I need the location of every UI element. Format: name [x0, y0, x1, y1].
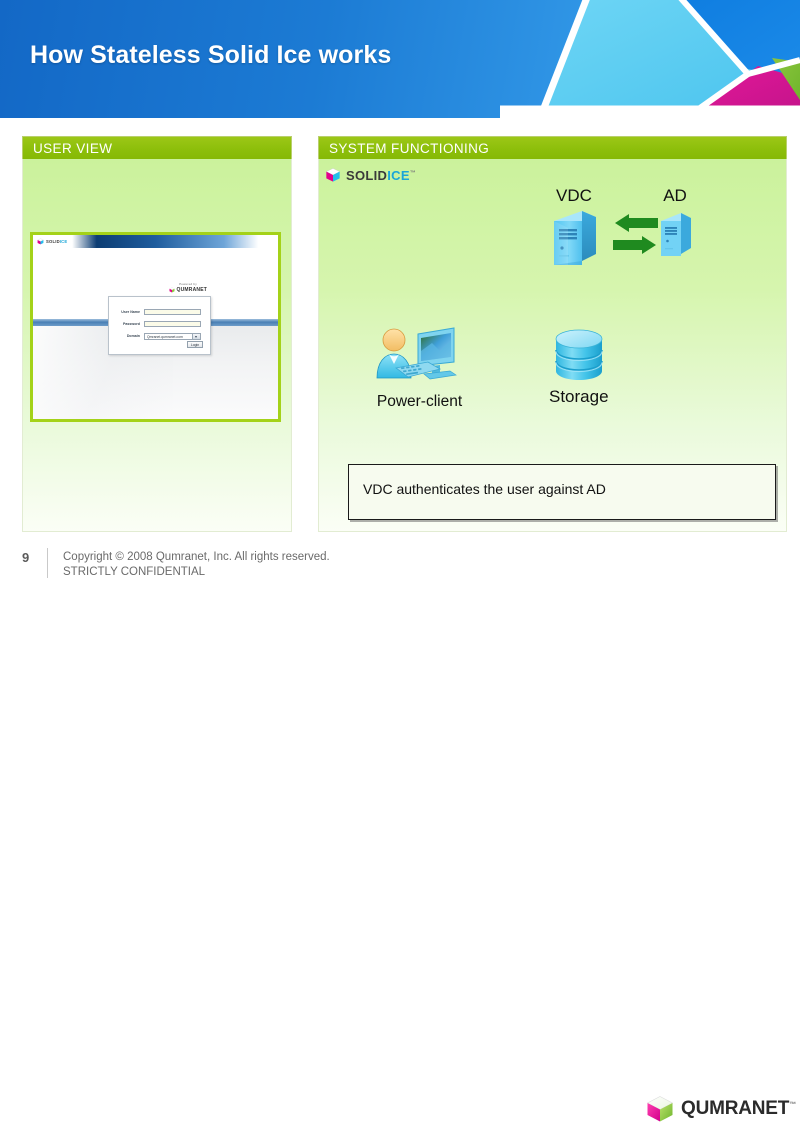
panel-user-view: USER VIEW SOLIDICE Powered by	[22, 136, 292, 532]
solidice-logo-text: SOLIDICE™	[346, 168, 416, 183]
page-number: 9	[22, 550, 29, 565]
chevron-down-icon	[192, 334, 200, 339]
node-ad: AD	[655, 186, 695, 265]
screenshot-powered-by: Powered by QUMRANET	[169, 282, 207, 293]
server-icon	[655, 210, 695, 260]
user-workstation-icon	[372, 324, 467, 386]
screenshot-solidice-logo: SOLIDICE	[37, 238, 67, 245]
login-field-username[interactable]: User Name	[113, 309, 201, 315]
node-vdc-label: VDC	[546, 186, 602, 206]
login-label-username: User Name	[113, 310, 144, 314]
screenshot-logo-text: SOLIDICE	[46, 239, 67, 244]
caption-box: VDC authenticates the user against AD	[348, 464, 776, 520]
footer-copyright: Copyright © 2008 Qumranet, Inc. All righ…	[63, 550, 330, 579]
slide-header: How Stateless Solid Ice works	[0, 0, 800, 118]
login-input-username[interactable]	[144, 309, 201, 315]
page-title: How Stateless Solid Ice works	[30, 41, 391, 70]
cube-icon	[37, 238, 44, 245]
bidirectional-arrows-icon	[613, 214, 658, 258]
database-icon	[550, 327, 608, 383]
node-storage: Storage	[549, 327, 609, 407]
screenshot-topbar	[33, 235, 278, 248]
qumranet-cube-icon	[645, 1094, 675, 1124]
user-view-screenshot[interactable]: SOLIDICE Powered by QUMRANET	[30, 232, 281, 422]
powered-by-logo: QUMRANET	[169, 287, 207, 293]
powered-by-label: Powered by	[169, 282, 207, 286]
server-icon	[546, 207, 602, 269]
footer-copyright-line1: Copyright © 2008 Qumranet, Inc. All righ…	[63, 550, 330, 565]
panel-user-view-body: SOLIDICE Powered by QUMRANET	[22, 159, 292, 532]
slide-footer: 9 Copyright © 2008 Qumranet, Inc. All ri…	[0, 540, 800, 600]
panel-user-view-header: USER VIEW	[22, 136, 292, 159]
footer-divider	[47, 548, 48, 578]
node-ad-label: AD	[655, 186, 695, 206]
qumranet-logo: QUMRANET™	[645, 1094, 796, 1124]
node-storage-label: Storage	[549, 387, 609, 407]
login-field-password[interactable]: Password	[113, 321, 201, 327]
login-dialog: User Name Password Domain Qmranet.qumran…	[108, 296, 211, 355]
node-power-client-label: Power-client	[372, 393, 467, 411]
solidice-logo: SOLIDICE™	[325, 167, 416, 183]
caption-text: VDC authenticates the user against AD	[363, 481, 606, 497]
header-decoration-shapes	[500, 0, 800, 118]
cube-icon	[325, 167, 341, 183]
login-input-password[interactable]	[144, 321, 201, 327]
login-label-password: Password	[113, 322, 144, 326]
login-submit-button[interactable]: Login	[187, 341, 203, 348]
footer-confidential-line: STRICTLY CONFIDENTIAL	[63, 565, 330, 580]
qumranet-logo-text: QUMRANET™	[681, 1098, 796, 1120]
panel-system-functioning-header: SYSTEM FUNCTIONING	[318, 136, 787, 159]
powered-by-brand: QUMRANET	[177, 287, 208, 293]
login-label-domain: Domain	[113, 334, 144, 338]
login-field-domain[interactable]: Domain Qmranet.qumranet.com	[113, 333, 201, 340]
slide: How Stateless Solid Ice works USER VIEW …	[0, 0, 800, 600]
qumranet-cube-icon	[169, 287, 175, 293]
login-select-domain[interactable]: Qmranet.qumranet.com	[144, 333, 201, 340]
node-power-client: Power-client	[372, 324, 467, 411]
node-vdc: VDC	[546, 186, 602, 274]
